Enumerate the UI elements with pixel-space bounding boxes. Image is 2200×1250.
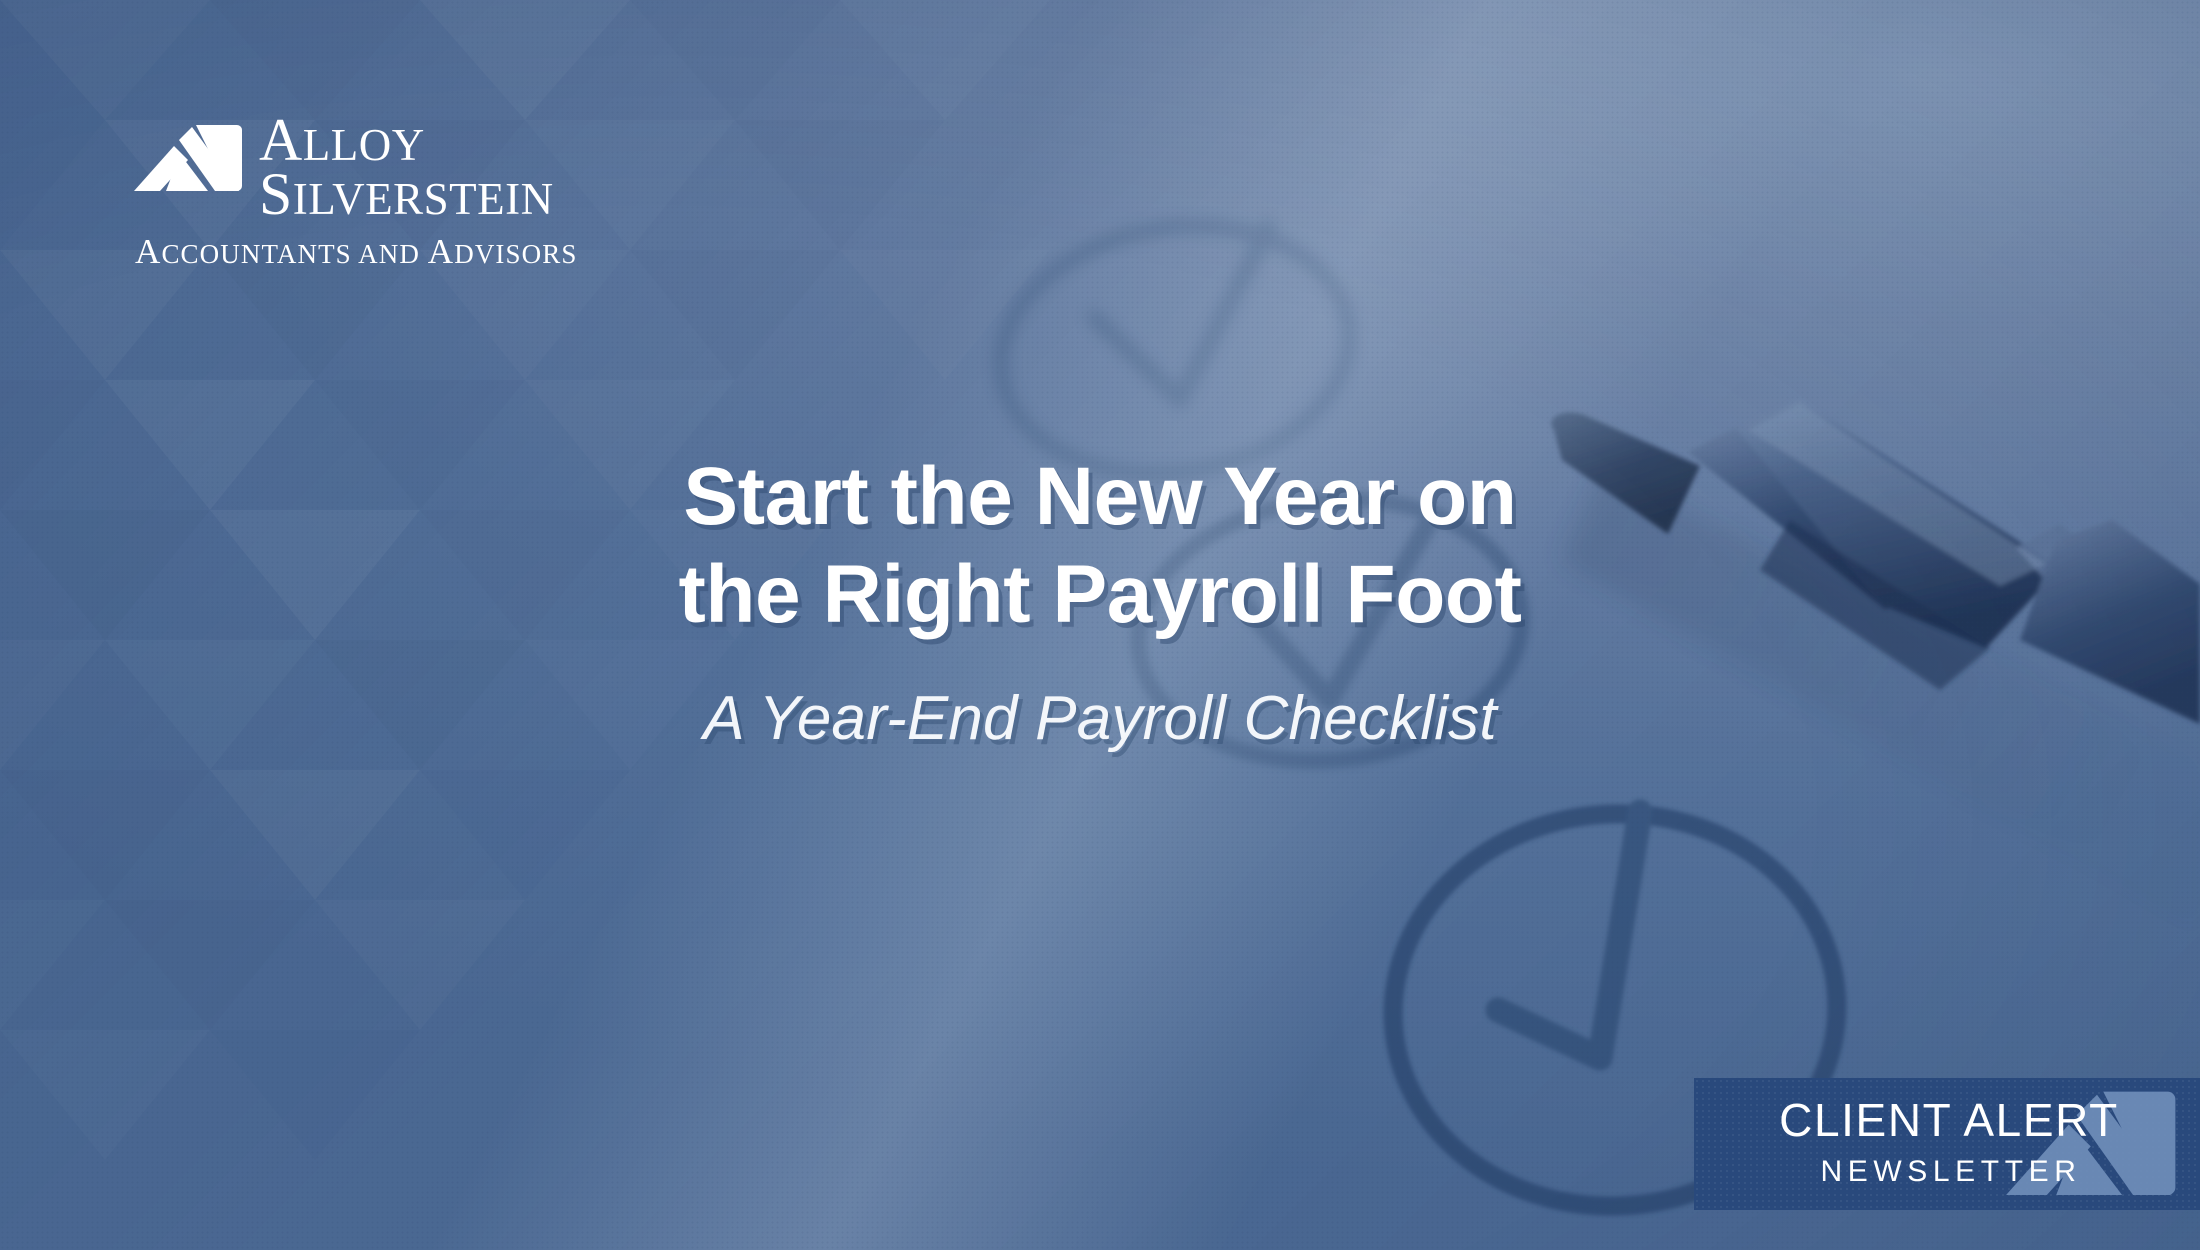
logo-word-alloy: ALLOY (259, 112, 554, 169)
alloy-silverstein-triangle-mark-icon (133, 124, 251, 198)
page-title: Start the New Year on the Right Payroll … (0, 448, 2200, 645)
title-line-2: the Right Payroll Foot (678, 549, 1521, 640)
badge-subtitle: NEWSLETTER (1698, 1157, 2200, 1187)
logo-row: ALLOY SILVERSTEIN (133, 112, 554, 223)
title-line-1: Start the New Year on (683, 451, 1516, 542)
headline-block: Start the New Year on the Right Payroll … (0, 448, 2200, 754)
brand-logo[interactable]: ALLOY SILVERSTEIN ACCOUNTANTS AND ADVISO… (133, 112, 577, 272)
logo-wordmark: ALLOY SILVERSTEIN (259, 112, 554, 223)
logo-word-silverstein: SILVERSTEIN (259, 166, 554, 223)
logo-tagline: ACCOUNTANTS AND ADVISORS (135, 232, 577, 272)
badge-title: CLIENT ALERT (1698, 1097, 2200, 1143)
client-alert-badge[interactable]: CLIENT ALERT NEWSLETTER (1694, 1078, 2200, 1210)
client-alert-banner: ALLOY SILVERSTEIN ACCOUNTANTS AND ADVISO… (0, 0, 2200, 1250)
badge-text-block: CLIENT ALERT NEWSLETTER (1694, 1097, 2200, 1187)
page-subtitle: A Year-End Payroll Checklist (0, 683, 2200, 754)
